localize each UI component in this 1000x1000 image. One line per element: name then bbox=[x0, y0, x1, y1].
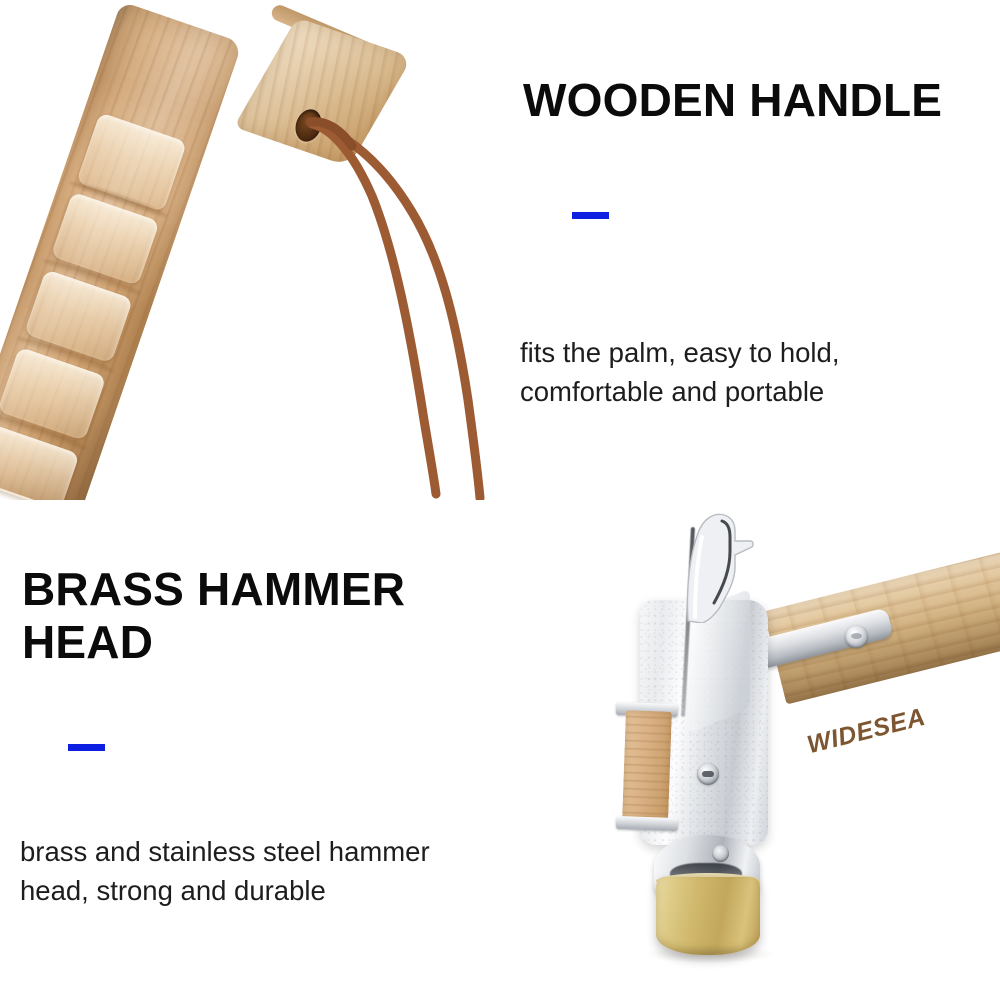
wooden-handle-photo bbox=[0, 0, 500, 500]
leather-cord-strand-right bbox=[318, 126, 480, 498]
wooden-insert-panel bbox=[622, 710, 672, 822]
neck-screw bbox=[712, 845, 729, 862]
accent-divider-wooden-handle bbox=[572, 212, 609, 219]
page-title-wooden-handle: WOODEN HANDLE bbox=[523, 74, 942, 127]
head-face-screw bbox=[697, 763, 719, 785]
page-title-brass-hammer-head: BRASS HAMMER HEAD bbox=[22, 563, 405, 670]
feature-description-wooden-handle: fits the palm, easy to hold, comfortable… bbox=[520, 333, 839, 411]
brand-engraving-widesea: WIDESEA bbox=[804, 703, 928, 760]
insert-clamp-bar-bottom bbox=[616, 816, 678, 831]
nail-puller-claw-icon bbox=[662, 511, 754, 623]
infographic-page: WOODEN HANDLE fits the palm, easy to hol… bbox=[0, 0, 1000, 1000]
strap-rivet-screw bbox=[845, 625, 868, 648]
leather-cord-group bbox=[0, 0, 500, 500]
brass-striking-face bbox=[656, 877, 760, 955]
brass-hammer-photo: WIDESEA bbox=[600, 505, 1000, 1000]
handle-illustration bbox=[0, 0, 500, 500]
feature-description-brass-hammer-head: brass and stainless steel hammer head, s… bbox=[20, 832, 430, 910]
accent-divider-brass-hammer-head bbox=[68, 744, 105, 751]
leather-cord-strand-left bbox=[312, 124, 436, 494]
hammer-illustration: WIDESEA bbox=[600, 505, 1000, 1000]
contact-shadow bbox=[646, 945, 774, 963]
